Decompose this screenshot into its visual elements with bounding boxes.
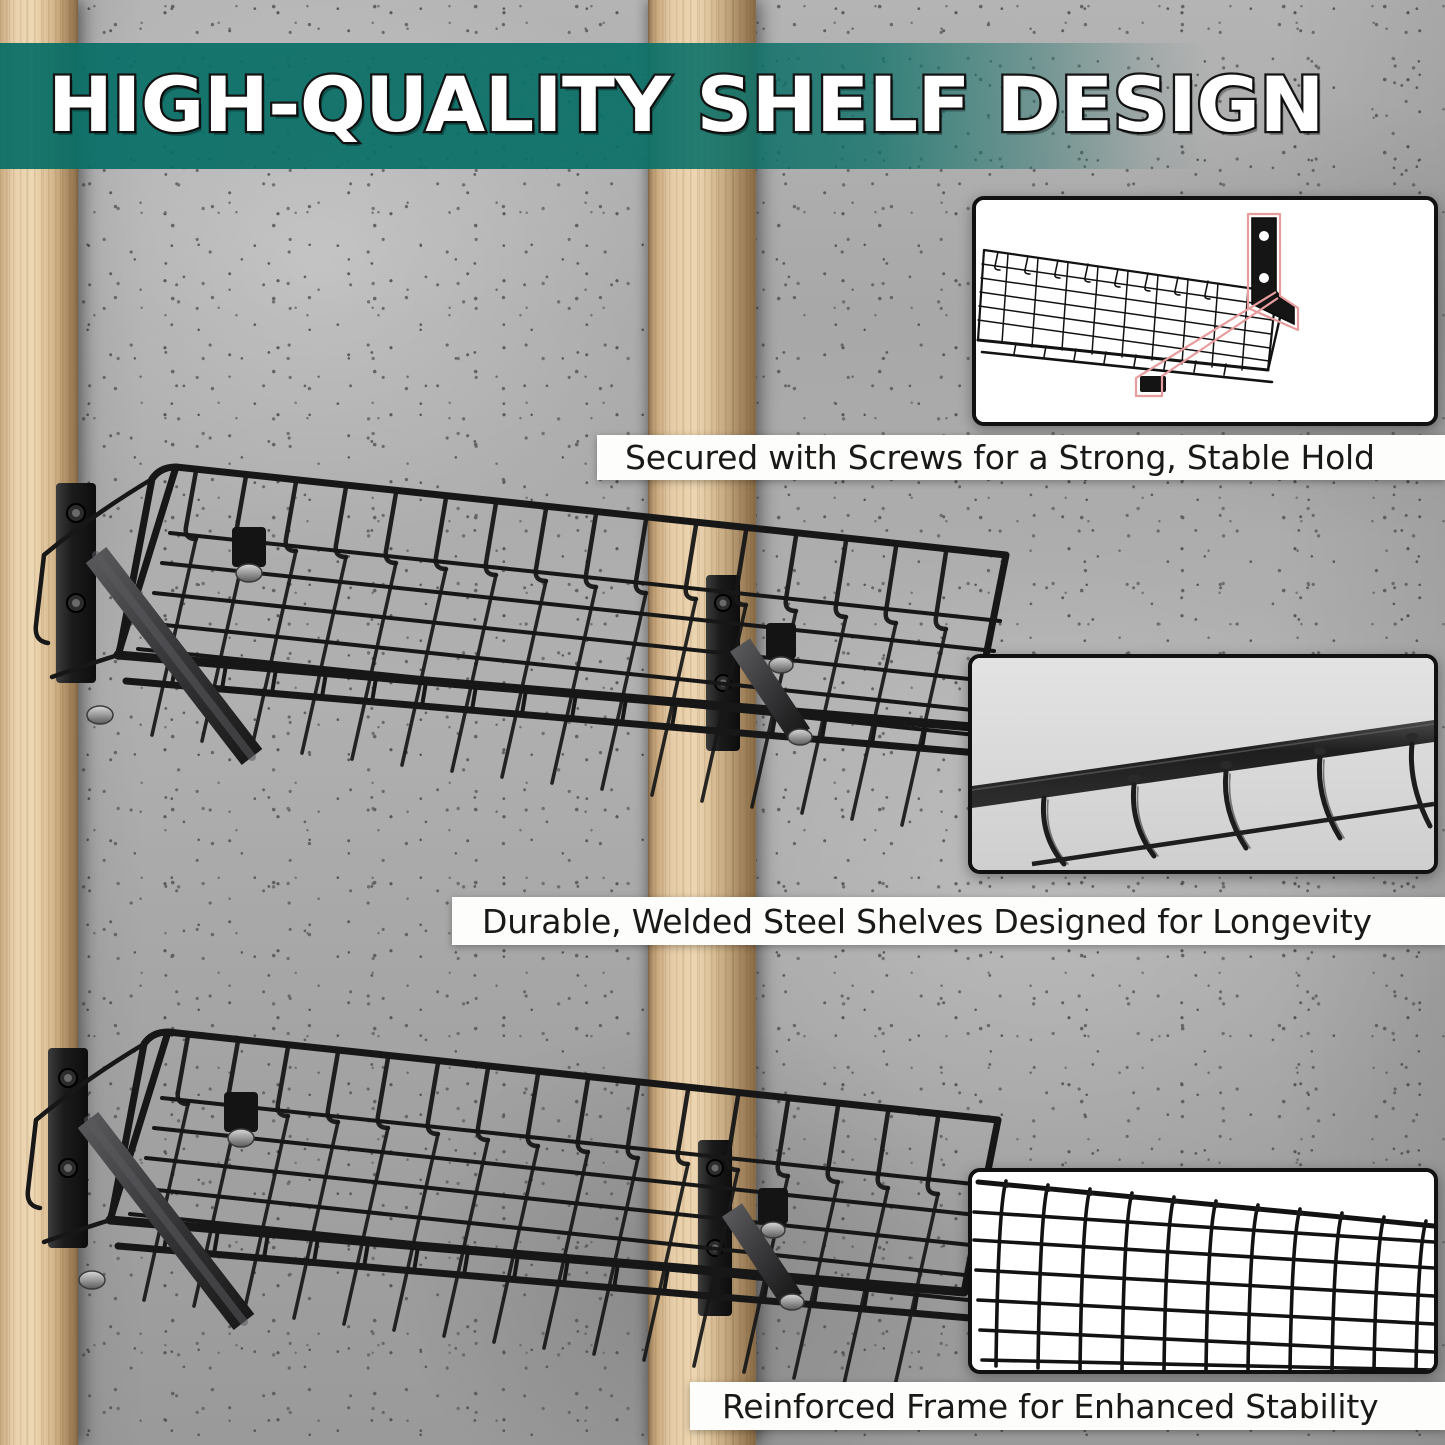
wood-stud-right bbox=[648, 0, 756, 1445]
caption-secured: Secured with Screws for a Strong, Stable… bbox=[597, 435, 1445, 480]
inset-mesh-detail bbox=[968, 1168, 1438, 1374]
inset-bracket-detail bbox=[972, 196, 1438, 426]
page-title: HIGH-QUALITY SHELF DESIGN bbox=[48, 55, 1405, 155]
inset-weld-detail bbox=[968, 654, 1438, 874]
caption-durable: Durable, Welded Steel Shelves Designed f… bbox=[452, 897, 1445, 945]
inset-mesh-illustration bbox=[972, 1172, 1434, 1370]
wood-stud-left bbox=[0, 0, 78, 1445]
product-marketing-image: HIGH-QUALITY SHELF DESIGN bbox=[0, 0, 1445, 1445]
inset-weld-illustration bbox=[972, 658, 1434, 870]
caption-reinforced: Reinforced Frame for Enhanced Stability bbox=[690, 1382, 1445, 1430]
inset-bracket-illustration bbox=[976, 200, 1434, 422]
